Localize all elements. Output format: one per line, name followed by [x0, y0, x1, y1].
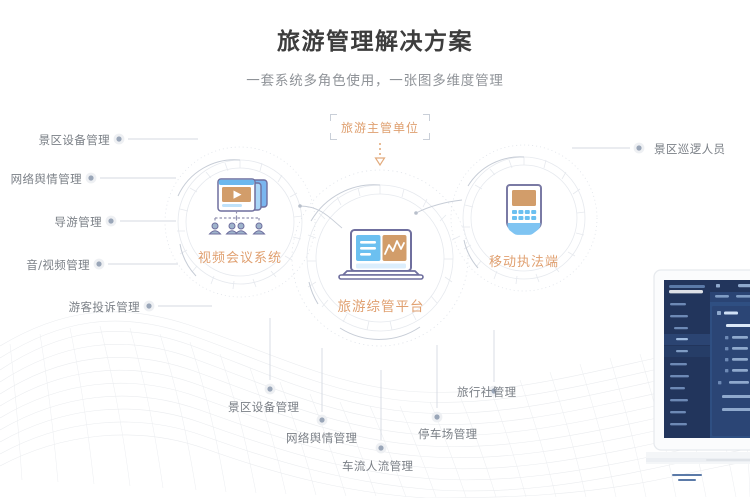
bottom-label-2[interactable]: 车流人流管理	[342, 458, 413, 474]
left-label-2[interactable]: 导游管理	[0, 214, 102, 230]
left-label-4[interactable]: 游客投诉管理	[0, 299, 140, 315]
left-label-0[interactable]: 景区设备管理	[0, 132, 110, 148]
bottom-label-4[interactable]: 旅行社管理	[457, 384, 517, 400]
handheld-device-icon	[501, 182, 547, 242]
page-title: 旅游管理解决方案	[0, 22, 750, 56]
page-header: 旅游管理解决方案 一套系统多角色使用，一张图多维度管理	[0, 22, 750, 89]
dashboard-mockup	[646, 258, 750, 498]
node-video-conference[interactable]: 视频会议系统	[185, 176, 295, 266]
laptop-dashboard-icon	[335, 228, 427, 286]
bottom-label-3[interactable]: 停车场管理	[418, 426, 478, 442]
page-subtitle: 一套系统多角色使用，一张图多维度管理	[0, 69, 750, 89]
dotted-down-arrow-icon	[372, 142, 388, 168]
left-label-3[interactable]: 音/视频管理	[0, 257, 90, 273]
right-label-0[interactable]: 景区巡逻人员	[654, 141, 725, 157]
badge-label: 旅游主管单位	[330, 114, 430, 140]
left-label-1[interactable]: 网络舆情管理	[0, 171, 82, 187]
node-label-video-conference: 视频会议系统	[185, 247, 295, 266]
node-mobile-enforcement[interactable]: 移动执法端	[474, 182, 574, 270]
solution-diagram-page: 旅游管理解决方案 一套系统多角色使用，一张图多维度管理	[0, 0, 750, 498]
bottom-label-0[interactable]: 景区设备管理	[228, 399, 299, 415]
node-label-mobile-enforcement: 移动执法端	[474, 251, 574, 270]
video-conference-icon	[203, 176, 277, 238]
node-platform[interactable]: 旅游综管平台	[325, 228, 437, 315]
right-connector-dots	[634, 143, 645, 154]
supervisor-badge[interactable]: 旅游主管单位	[330, 114, 430, 140]
bottom-label-1[interactable]: 网络舆情管理	[286, 430, 357, 446]
node-label-platform: 旅游综管平台	[325, 295, 437, 315]
